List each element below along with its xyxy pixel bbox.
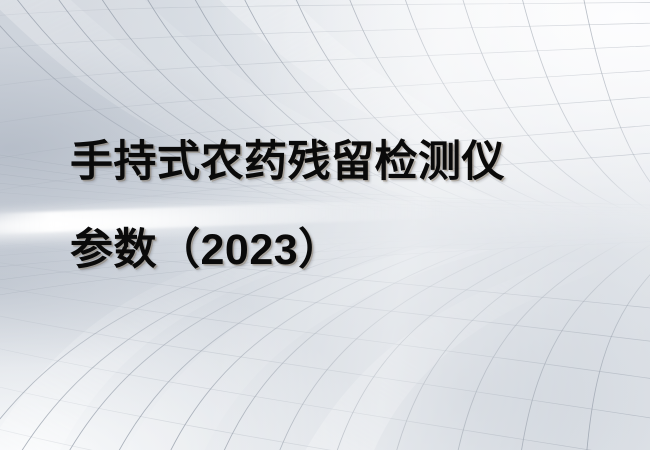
title-card-slide: 手持式农药残留检测仪 参数（2023） [0,0,650,450]
title-block: 手持式农药残留检测仪 参数（2023） [70,118,630,294]
title-line-2: 参数（2023） [70,206,630,294]
title-line-1: 手持式农药残留检测仪 [70,118,630,206]
